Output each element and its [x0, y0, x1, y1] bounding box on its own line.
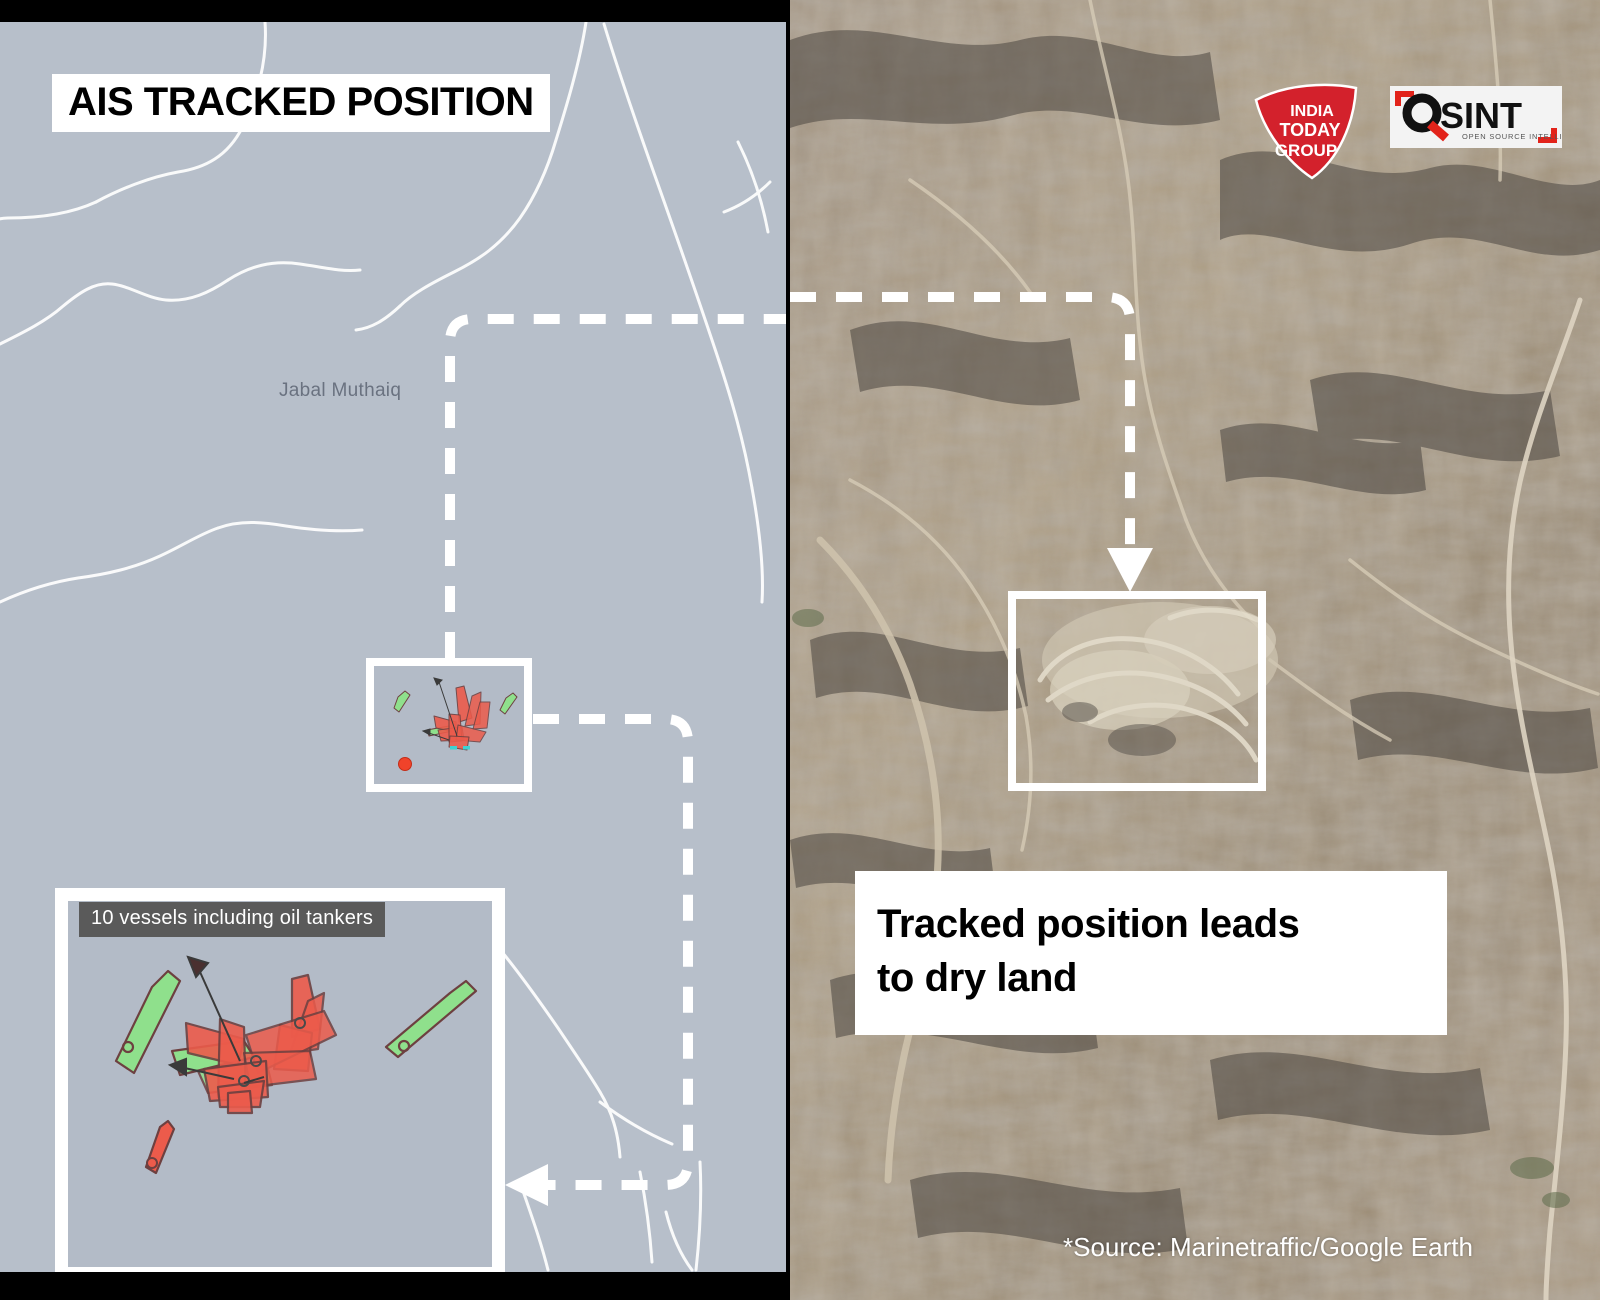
headline-line-1: Tracked position leads	[877, 897, 1447, 951]
map-place-label: Jabal Muthaiq	[279, 380, 401, 402]
source-credit: *Source: Marinetraffic/Google Earth	[1063, 1232, 1473, 1263]
map-surface: AIS TRACKED POSITION Jabal Muthaiq	[0, 22, 786, 1272]
osint-subtitle: OPEN SOURCE INTELLIGENCE	[1462, 132, 1562, 141]
vessel-cluster-large	[68, 901, 492, 1267]
ais-zoom-box-small[interactable]	[366, 658, 532, 792]
page-title-text: AIS TRACKED POSITION	[68, 80, 534, 124]
india-today-group-logo[interactable]: INDIA TODAY GROUP	[1250, 78, 1362, 183]
ais-zoom-box-large[interactable]: 10 vessels including oil tankers	[55, 888, 505, 1272]
itg-line2: TODAY	[1279, 120, 1340, 140]
itg-line3: GROUP	[1275, 141, 1337, 160]
vessel-cluster-small	[374, 666, 524, 784]
position-dot	[399, 758, 412, 771]
infographic-root: AIS TRACKED POSITION Jabal Muthaiq	[0, 0, 1600, 1300]
vessel-count-caption: 10 vessels including oil tankers	[79, 902, 385, 937]
satellite-highlight-box[interactable]	[1008, 591, 1266, 791]
headline-callout: Tracked position leads to dry land	[855, 871, 1447, 1035]
ais-map-panel: AIS TRACKED POSITION Jabal Muthaiq	[0, 0, 786, 1300]
osint-wordmark: SINT	[1440, 95, 1522, 136]
itg-line1: INDIA	[1290, 103, 1334, 120]
osint-logo[interactable]: SINT OPEN SOURCE INTELLIGENCE	[1390, 86, 1562, 148]
headline-line-2: to dry land	[877, 951, 1447, 1005]
page-title: AIS TRACKED POSITION	[52, 74, 550, 132]
